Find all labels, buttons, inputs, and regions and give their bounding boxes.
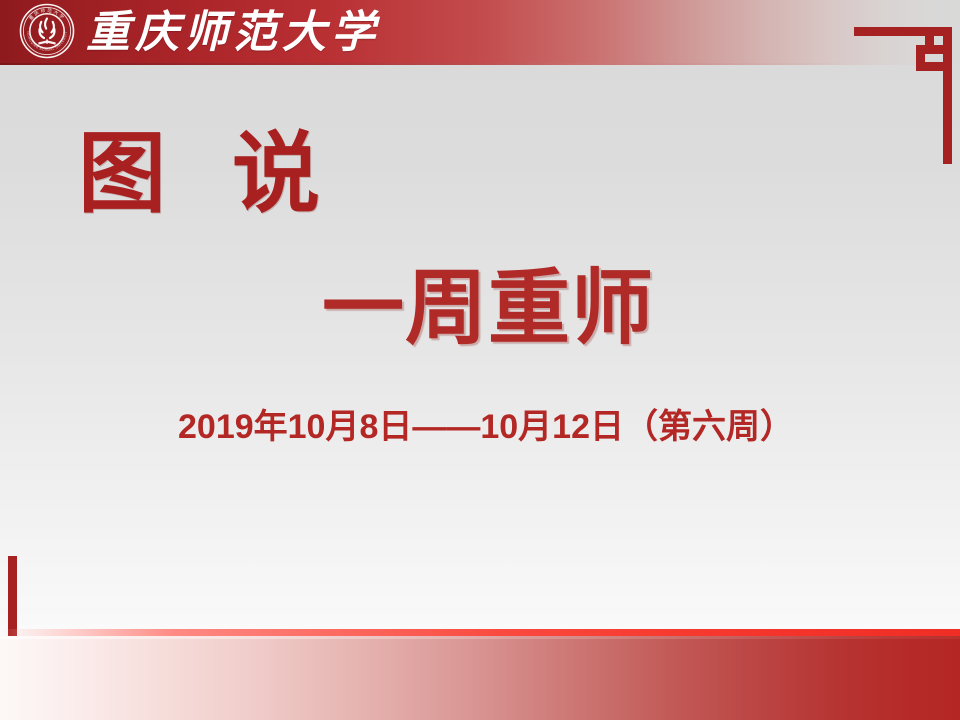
presentation-slide: 重庆师范大学 CHONGQING NORMAL UNIVERSITY <box>0 0 960 720</box>
title-line-2: 一周重师 <box>322 268 654 350</box>
university-seal-icon: 重庆师范大学 CHONGQING NORMAL UNIVERSITY <box>19 3 75 59</box>
footer-accent-line <box>0 629 960 636</box>
university-name: 重庆师范大学 <box>86 2 380 64</box>
footer-band <box>0 636 960 720</box>
date-range-label: 2019年10月8日——10月12日（第六周） <box>178 409 794 446</box>
title-line-1: 图 说 <box>78 132 342 220</box>
